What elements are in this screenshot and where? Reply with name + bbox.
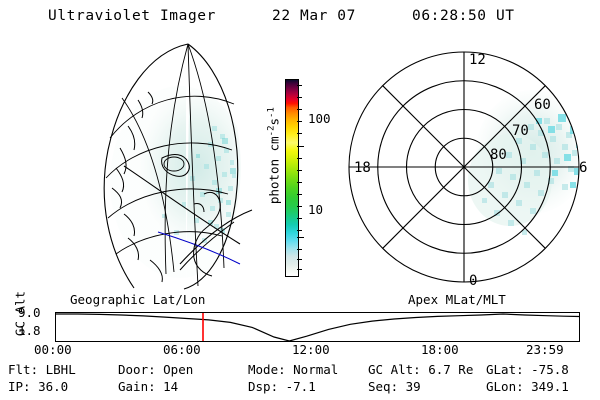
mlt-spokes bbox=[349, 52, 579, 282]
geographic-panel-label: Geographic Lat/Lon bbox=[70, 292, 205, 307]
status-seq: Seq: 39 bbox=[368, 379, 421, 394]
status-door: Door: Open bbox=[118, 362, 193, 377]
orbit-xtick-4: 23:59 bbox=[526, 342, 564, 357]
mlat-label-80: 80 bbox=[490, 147, 507, 163]
mlt-label-18: 18 bbox=[354, 160, 371, 176]
mlat-label-70: 70 bbox=[512, 123, 529, 139]
status-ip: IP: 36.0 bbox=[8, 379, 68, 394]
observation-time: 06:28:50 UT bbox=[412, 8, 515, 24]
status-gc-alt: GC Alt: 6.7 Re bbox=[368, 362, 473, 377]
colorbar-unit-main: photon cm bbox=[267, 136, 282, 204]
orbit-altitude-track: Geographic Lat/Lon Apex MLat/MLT GC Alt … bbox=[0, 292, 600, 354]
orbit-xtick-3: 18:00 bbox=[421, 342, 459, 357]
colorbar-tick-100: 100 bbox=[308, 113, 331, 126]
aurora-emission-globe bbox=[110, 86, 250, 278]
colorbar-unit-exp2: -1 bbox=[266, 107, 276, 118]
altitude-trace bbox=[56, 314, 579, 341]
orbit-plot-frame bbox=[55, 312, 580, 342]
status-filter: Flt: LBHL bbox=[8, 362, 76, 377]
colorbar-ticks bbox=[297, 79, 305, 275]
colorbar-unit-exp1: -2 bbox=[266, 125, 276, 136]
instrument-title: Ultraviolet Imager bbox=[48, 8, 216, 24]
orbit-xtick-1: 06:00 bbox=[163, 342, 201, 357]
mlt-label-0: 0 bbox=[469, 273, 477, 289]
status-dsp: Dsp: -7.1 bbox=[248, 379, 316, 394]
orbit-xtick-0: 00:00 bbox=[34, 342, 72, 357]
status-footer: Flt: LBHL IP: 36.0 Door: Open Gain: 14 M… bbox=[0, 362, 600, 398]
colorbar-tick-10: 10 bbox=[308, 204, 323, 217]
status-gain: Gain: 14 bbox=[118, 379, 178, 394]
mlt-label-6: 6 bbox=[579, 160, 587, 176]
aurora-emission-polar bbox=[468, 90, 588, 235]
mlt-label-12: 12 bbox=[469, 52, 486, 68]
apex-panel-label: Apex MLat/MLT bbox=[408, 292, 506, 307]
geographic-globe-view bbox=[62, 42, 272, 290]
polar-mlat-mlt-plot: 12 18 6 0 60 70 80 bbox=[330, 40, 600, 292]
mlat-label-60: 60 bbox=[534, 97, 551, 113]
status-mode: Mode: Normal bbox=[248, 362, 338, 377]
colorbar-unit-mid: s bbox=[267, 118, 282, 126]
uv-imager-display: Ultraviolet Imager 22 Mar 07 06:28:50 UT bbox=[0, 0, 600, 400]
header: Ultraviolet Imager 22 Mar 07 06:28:50 UT bbox=[0, 6, 600, 30]
colorbar-axis-label: photon cm-2s-1 bbox=[266, 90, 281, 222]
orbit-xtick-2: 12:00 bbox=[292, 342, 330, 357]
status-glon: GLon: 349.1 bbox=[486, 379, 569, 394]
observation-date: 22 Mar 07 bbox=[272, 8, 356, 24]
status-glat: GLat: -75.8 bbox=[486, 362, 569, 377]
